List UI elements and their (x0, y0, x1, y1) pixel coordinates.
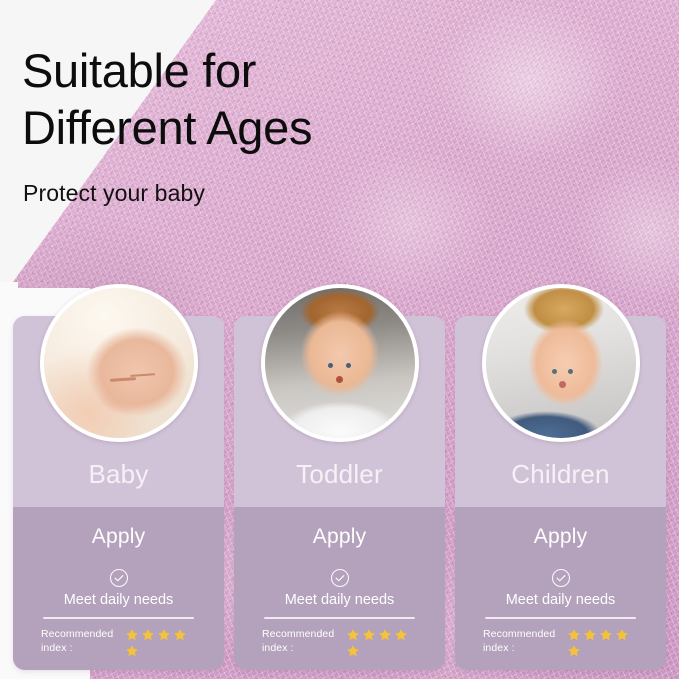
check-circle-icon (330, 568, 350, 588)
recommended-label-line-1: Recommended (262, 627, 338, 641)
page-title: Suitable for Different Ages (22, 42, 442, 156)
star-rating (125, 627, 195, 658)
recommended-label-line-1: Recommended (483, 627, 559, 641)
star-icon (125, 644, 139, 658)
needs-text: Meet daily needs (13, 592, 224, 608)
check-icon-wrap (455, 568, 666, 588)
star-icon (567, 644, 581, 658)
apply-label: Apply (234, 525, 445, 549)
card-divider (43, 617, 194, 619)
avatar (482, 284, 640, 442)
avatar (40, 284, 198, 442)
recommended-index-row: Recommended index : (41, 627, 201, 658)
check-icon-wrap (13, 568, 224, 588)
star-icon (567, 628, 581, 642)
star-rating (346, 627, 416, 658)
star-icon (346, 644, 360, 658)
promo-banner: Suitable for Different Ages Protect your… (0, 0, 679, 679)
page-subtitle: Protect your baby (23, 180, 205, 207)
star-icon (125, 628, 139, 642)
recommended-label-line-2: index : (483, 641, 559, 655)
recommended-index-row: Recommended index : (483, 627, 643, 658)
card-label: Children (455, 459, 666, 490)
star-icon (173, 628, 187, 642)
card-divider (485, 617, 636, 619)
star-icon (378, 628, 392, 642)
recommended-index-label: Recommended index : (41, 627, 117, 655)
card-divider (264, 617, 415, 619)
star-icon (599, 628, 613, 642)
avatar (261, 284, 419, 442)
apply-label: Apply (455, 525, 666, 549)
star-icon (141, 628, 155, 642)
check-circle-icon (551, 568, 571, 588)
avatar-image-toddler (265, 288, 415, 438)
check-icon-wrap (234, 568, 445, 588)
avatar-image-baby (44, 288, 194, 438)
card-label: Baby (13, 459, 224, 490)
recommended-index-label: Recommended index : (483, 627, 559, 655)
star-icon (394, 628, 408, 642)
recommended-label-line-2: index : (41, 641, 117, 655)
star-icon (346, 628, 360, 642)
star-rating (567, 627, 637, 658)
recommended-label-line-2: index : (262, 641, 338, 655)
needs-text: Meet daily needs (234, 592, 445, 608)
star-icon (362, 628, 376, 642)
apply-label: Apply (13, 525, 224, 549)
headline-line-2: Different Ages (22, 99, 442, 156)
avatar-image-children (486, 288, 636, 438)
needs-text: Meet daily needs (455, 592, 666, 608)
recommended-index-row: Recommended index : (262, 627, 422, 658)
recommended-label-line-1: Recommended (41, 627, 117, 641)
recommended-index-label: Recommended index : (262, 627, 338, 655)
star-icon (615, 628, 629, 642)
card-label: Toddler (234, 459, 445, 490)
headline-line-1: Suitable for (22, 42, 442, 99)
star-icon (157, 628, 171, 642)
star-icon (583, 628, 597, 642)
check-circle-icon (109, 568, 129, 588)
